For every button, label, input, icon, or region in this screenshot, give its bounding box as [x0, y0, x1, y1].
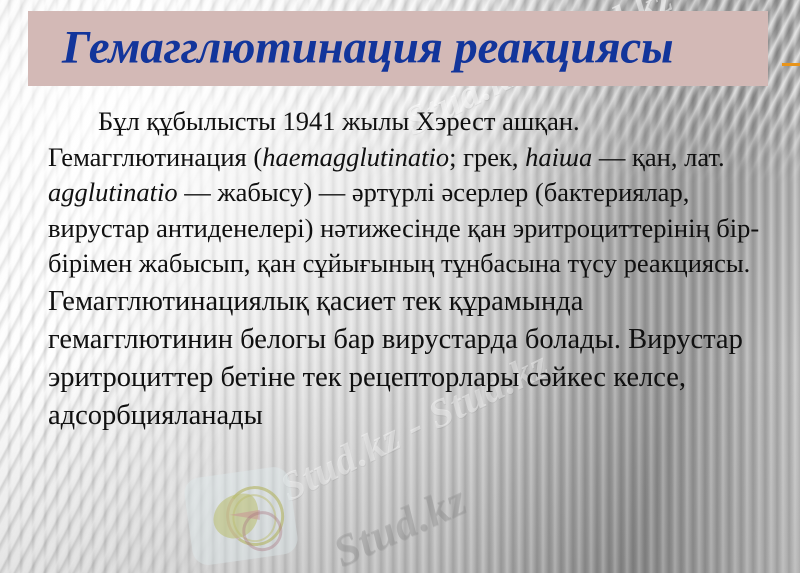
latin-term-haemagglutinatio: haemagglutinatio — [262, 142, 449, 172]
paragraph-1-segment-2: ; грек, — [449, 142, 525, 172]
accent-rule — [782, 63, 800, 66]
slide-title: Гемагглютинация реакциясы — [62, 24, 673, 71]
slide-body: Бұл құбылысты 1941 жылы Хэрест ашқан. Ге… — [48, 104, 764, 435]
presentation-slide: Stud.kz - Stud.kz Stud.kz - Stud.kz Stud… — [0, 0, 800, 573]
paragraph-1-segment-3: — қан, лат. — [592, 142, 724, 172]
body-paragraph-1: Бұл құбылысты 1941 жылы Хэрест ашқан. Ге… — [48, 104, 764, 282]
body-paragraph-2: Гемагглютинациялық қасиет тек құрамында … — [48, 283, 764, 435]
greek-term-haima: һаіша — [525, 142, 592, 172]
slide-title-band: Гемагглютинация реакциясы — [28, 11, 768, 86]
latin-term-agglutinatio: agglutinatio — [48, 177, 178, 207]
